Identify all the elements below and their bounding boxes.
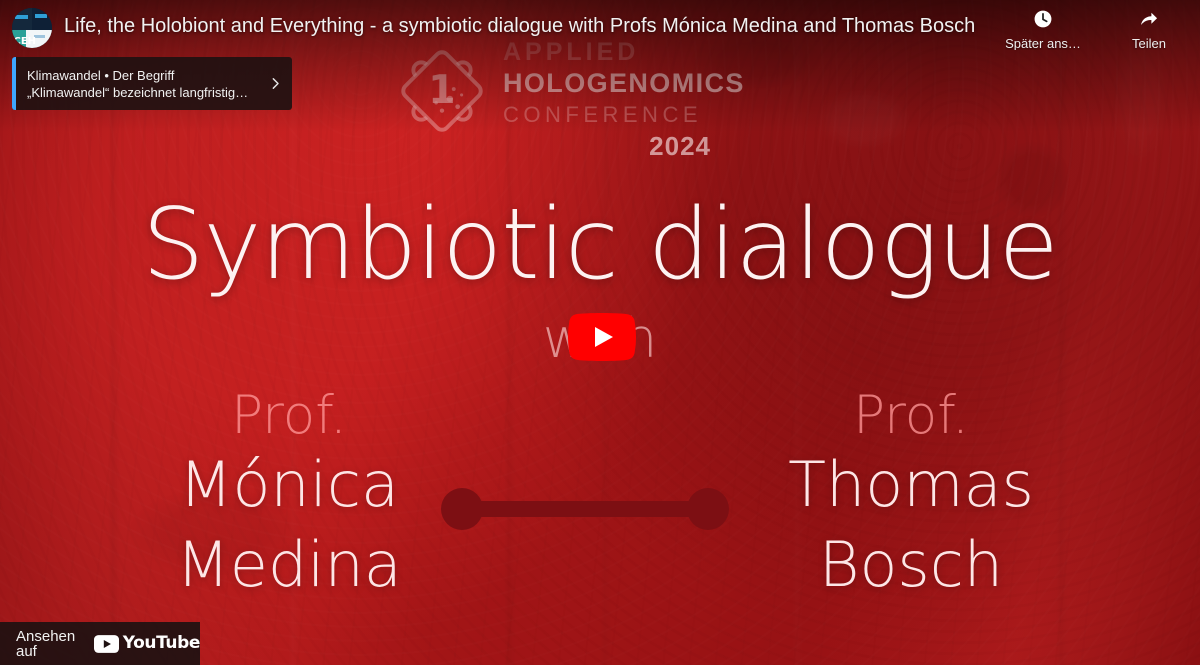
- info-card-text: Klimawandel • Der Begriff „Klimawandel“ …: [27, 67, 254, 101]
- info-card-expand-button[interactable]: [258, 76, 292, 91]
- thumbnail-headline: Symbiotic dialogue: [0, 196, 1200, 294]
- top-actions: Später ans… Teilen: [1000, 8, 1192, 50]
- speaker-connector-icon: [440, 488, 730, 530]
- chevron-right-icon: [268, 76, 283, 91]
- speaker-left-honorific: Prof.: [54, 386, 524, 445]
- watch-later-label: Später ans…: [1005, 37, 1081, 50]
- play-button[interactable]: [568, 313, 636, 361]
- svg-text:CEH: CEH: [14, 36, 37, 47]
- info-card[interactable]: Klimawandel • Der Begriff „Klimawandel“ …: [12, 57, 292, 110]
- channel-avatar[interactable]: CEH: [12, 8, 52, 48]
- speaker-right: Prof. Thomas Bosch: [676, 386, 1146, 604]
- player-top-bar: CEH Life, the Holobiont and Everything -…: [0, 0, 1200, 60]
- video-title[interactable]: Life, the Holobiont and Everything - a s…: [64, 12, 990, 40]
- info-card-body: Klimawandel • Der Begriff „Klimawandel“ …: [16, 67, 258, 101]
- speaker-left-last-name: Medina: [54, 525, 524, 604]
- play-icon: [568, 313, 636, 361]
- youtube-wordmark: YouTube: [123, 635, 200, 652]
- channel-avatar-image: CEH: [12, 8, 52, 48]
- watch-on-youtube-button[interactable]: Ansehen auf YouTube: [0, 622, 200, 665]
- watch-on-label: Ansehen auf: [16, 629, 83, 659]
- youtube-embedded-player[interactable]: 1 APPLIED HOLOGENOMICS CONFERENCE 2024 S…: [0, 0, 1200, 665]
- share-button[interactable]: Teilen: [1106, 8, 1192, 50]
- clock-icon: [1032, 8, 1054, 30]
- speaker-right-last-name: Bosch: [676, 525, 1146, 604]
- youtube-logo: YouTube: [94, 635, 200, 653]
- watch-later-button[interactable]: Später ans…: [1000, 8, 1086, 50]
- share-arrow-icon: [1138, 8, 1160, 30]
- speaker-right-honorific: Prof.: [676, 386, 1146, 445]
- youtube-play-icon: [94, 635, 119, 653]
- speaker-right-first-name: Thomas: [676, 445, 1146, 524]
- share-label: Teilen: [1132, 37, 1166, 50]
